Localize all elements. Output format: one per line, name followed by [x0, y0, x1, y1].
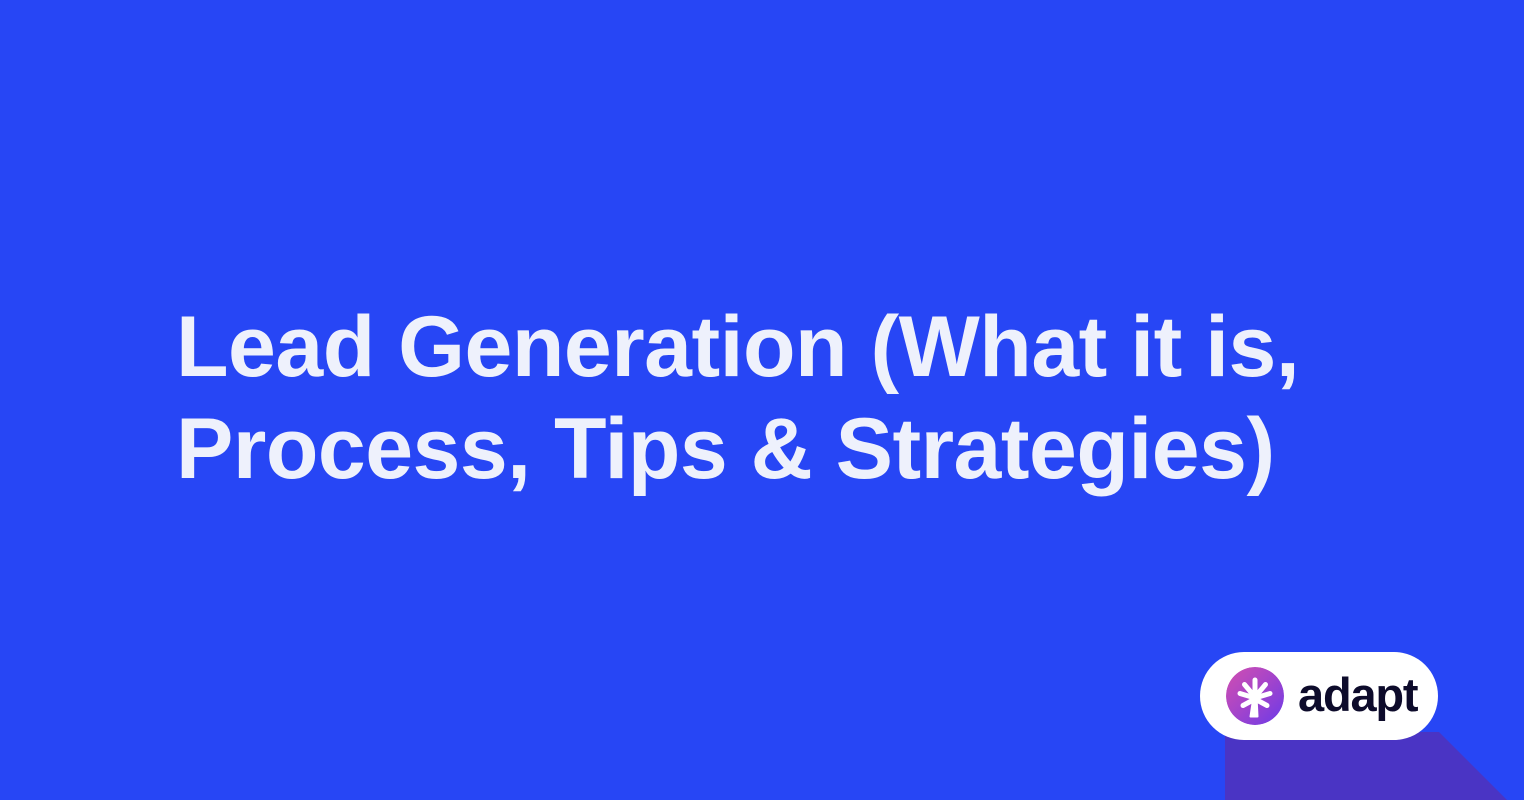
page-title: Lead Generation (What it is, Process, Ti… [176, 296, 1296, 500]
adapt-wordmark: adapt [1298, 671, 1417, 718]
headline-line-2: Process, Tips & Strategies) [176, 398, 1296, 500]
adapt-logo-badge[interactable]: adapt [1200, 652, 1438, 740]
headline-line-1: Lead Generation (What it is, [176, 296, 1296, 398]
promo-banner: Lead Generation (What it is, Process, Ti… [0, 0, 1524, 800]
adapt-tree-mark-icon [1226, 667, 1284, 725]
